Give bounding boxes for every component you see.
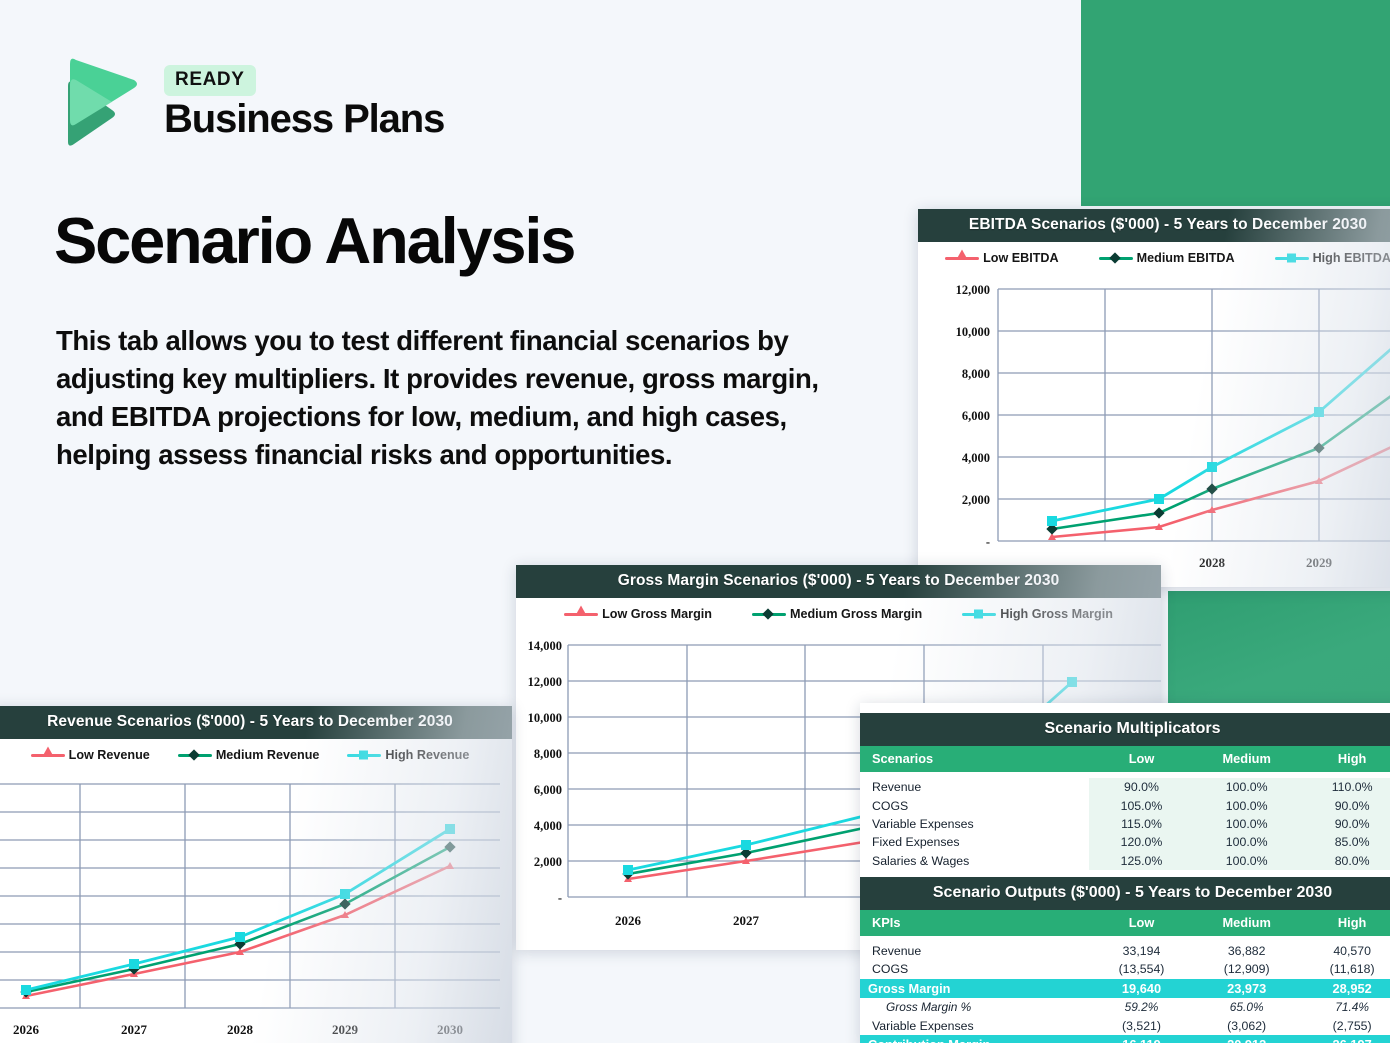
legend-swatch-low — [945, 257, 979, 260]
table-row: Variable Expenses115.0%100.0%90.0% — [860, 815, 1390, 833]
ebitda-chart-card: EBITDA Scenarios ($'000) - 5 Years to De… — [918, 209, 1390, 587]
diamond-marker-icon — [1109, 252, 1120, 263]
column-header-high: High — [1299, 746, 1390, 772]
cell-high: 40,570 — [1299, 942, 1390, 960]
triangle-marker-icon — [957, 250, 967, 259]
svg-text:2026: 2026 — [615, 913, 642, 928]
square-marker-icon — [1287, 254, 1296, 263]
square-marker-icon — [974, 610, 983, 619]
cell-low: (13,554) — [1089, 960, 1194, 978]
brand-name: Business Plans — [164, 99, 444, 140]
svg-text:2029: 2029 — [332, 1022, 359, 1037]
svg-text:-: - — [986, 535, 990, 549]
multiplicators-table: Scenarios Low Medium High Revenue90.0%10… — [860, 746, 1390, 870]
cell-medium: 100.0% — [1194, 815, 1299, 833]
page-title: Scenario Analysis — [54, 208, 574, 275]
legend-item-medium: Medium Revenue — [178, 748, 320, 762]
svg-text:6,000: 6,000 — [534, 783, 562, 797]
decorative-green-block-top-right — [1081, 0, 1390, 206]
svg-text:2026: 2026 — [13, 1022, 40, 1037]
svg-text:2030: 2030 — [437, 1022, 463, 1037]
svg-text:12,000: 12,000 — [528, 675, 562, 689]
legend-label-low: Low EBITDA — [983, 251, 1059, 265]
legend-item-medium: Medium EBITDA — [1099, 251, 1235, 265]
scenario-tables-card: Scenario Multiplicators Scenarios Low Me… — [860, 703, 1390, 1043]
ebitda-chart-title: EBITDA Scenarios ($'000) - 5 Years to De… — [918, 209, 1390, 242]
svg-text:10,000: 10,000 — [528, 711, 562, 725]
cell-medium: 36,882 — [1194, 942, 1299, 960]
cell-low: 120.0% — [1089, 833, 1194, 851]
legend-swatch-high — [347, 754, 381, 757]
play-triangle-logo-icon — [56, 56, 142, 148]
column-header-high: High — [1299, 910, 1390, 936]
svg-text:14,000: 14,000 — [528, 639, 562, 653]
cell-medium: 23,973 — [1194, 979, 1299, 998]
cell-low: (3,521) — [1089, 1016, 1194, 1034]
svg-text:6,000: 6,000 — [962, 409, 990, 423]
cell-medium: 20,912 — [1194, 1035, 1299, 1043]
column-header-kpis: KPIs — [860, 910, 1089, 936]
svg-text:8,000: 8,000 — [534, 747, 562, 761]
decorative-green-block-middle-right — [1168, 591, 1390, 708]
cell-medium: 100.0% — [1194, 833, 1299, 851]
svg-text:2,000: 2,000 — [962, 493, 990, 507]
cell-high: 110.0% — [1299, 778, 1390, 796]
row-label: Gross Margin — [860, 979, 1089, 998]
column-header-medium: Medium — [1194, 910, 1299, 936]
outputs-title: Scenario Outputs ($'000) - 5 Years to De… — [860, 877, 1390, 910]
cell-low: 90.0% — [1089, 778, 1194, 796]
triangle-marker-icon — [43, 747, 53, 756]
table-row: Gross Margin %59.2%65.0%71.4% — [860, 998, 1390, 1016]
legend-label-low: Low Revenue — [69, 748, 150, 762]
row-label: Fixed Expenses — [860, 833, 1089, 851]
svg-text:10,000: 10,000 — [956, 325, 990, 339]
cell-medium: (12,909) — [1194, 960, 1299, 978]
cell-high: (2,755) — [1299, 1016, 1390, 1034]
cell-low: 33,194 — [1089, 942, 1194, 960]
cell-low: 115.0% — [1089, 815, 1194, 833]
table-row: COGS(13,554)(12,909)(11,618) — [860, 960, 1390, 978]
column-header-low: Low — [1089, 910, 1194, 936]
row-label: Revenue — [860, 942, 1089, 960]
legend-item-medium: Medium Gross Margin — [752, 607, 922, 621]
column-header-medium: Medium — [1194, 746, 1299, 772]
svg-text:2028: 2028 — [1199, 555, 1226, 570]
legend-label-medium: Medium Gross Margin — [790, 607, 922, 621]
cell-high: 80.0% — [1299, 852, 1390, 870]
svg-text:2,000: 2,000 — [534, 855, 562, 869]
cell-medium: 100.0% — [1194, 852, 1299, 870]
legend-label-high: High EBITDA — [1313, 251, 1390, 265]
cell-high: 26,197 — [1299, 1035, 1390, 1043]
row-label: Salaries & Wages — [860, 852, 1089, 870]
svg-text:-: - — [558, 891, 562, 905]
ebitda-plot: 12,000 10,000 8,000 6,000 4,000 2,000 - … — [918, 269, 1390, 574]
legend-swatch-low — [31, 754, 65, 757]
cell-high: (11,618) — [1299, 960, 1390, 978]
brand-logo: READY Business Plans — [56, 56, 444, 148]
table-header-row: Scenarios Low Medium High — [860, 746, 1390, 772]
page-description: This tab allows you to test different fi… — [56, 322, 846, 474]
svg-text:8,000: 8,000 — [962, 367, 990, 381]
legend-label-high: High Gross Margin — [1000, 607, 1113, 621]
cell-medium: 100.0% — [1194, 796, 1299, 814]
svg-text:4,000: 4,000 — [534, 819, 562, 833]
slide-canvas: READY Business Plans Scenario Analysis T… — [0, 0, 1390, 1043]
legend-label-high: High Revenue — [385, 748, 469, 762]
legend-swatch-medium — [1099, 257, 1133, 260]
legend-label-low: Low Gross Margin — [602, 607, 712, 621]
legend-swatch-medium — [752, 613, 786, 616]
gross-margin-chart-legend: Low Gross Margin Medium Gross Margin Hig… — [516, 598, 1161, 625]
cell-high: 71.4% — [1299, 998, 1390, 1016]
legend-swatch-high — [962, 613, 996, 616]
cell-medium: 100.0% — [1194, 778, 1299, 796]
legend-item-high: High Revenue — [347, 748, 469, 762]
row-label: Gross Margin % — [860, 998, 1089, 1016]
multiplicators-title: Scenario Multiplicators — [860, 713, 1390, 746]
table-row: Contribution Margin16,11920,91226,197 — [860, 1035, 1390, 1043]
cell-high: 28,952 — [1299, 979, 1390, 998]
table-row: Fixed Expenses120.0%100.0%85.0% — [860, 833, 1390, 851]
cell-low: 19,640 — [1089, 979, 1194, 998]
table-row: COGS105.0%100.0%90.0% — [860, 796, 1390, 814]
legend-item-low: Low Gross Margin — [564, 607, 712, 621]
ready-badge: READY — [164, 65, 256, 96]
triangle-marker-icon — [576, 606, 586, 615]
revenue-chart-card: Revenue Scenarios ($'000) - 5 Years to D… — [0, 706, 512, 1043]
cell-medium: 65.0% — [1194, 998, 1299, 1016]
revenue-chart-title: Revenue Scenarios ($'000) - 5 Years to D… — [0, 706, 512, 739]
svg-text:12,000: 12,000 — [956, 283, 990, 297]
svg-text:2028: 2028 — [227, 1022, 254, 1037]
svg-text:2027: 2027 — [733, 913, 760, 928]
ebitda-chart-legend: Low EBITDA Medium EBITDA High EBITDA — [918, 242, 1390, 269]
cell-high: 85.0% — [1299, 833, 1390, 851]
row-label: Variable Expenses — [860, 815, 1089, 833]
diamond-marker-icon — [762, 608, 773, 619]
svg-text:2027: 2027 — [121, 1022, 148, 1037]
legend-label-medium: Medium EBITDA — [1137, 251, 1235, 265]
cell-low: 125.0% — [1089, 852, 1194, 870]
table-row: Salaries & Wages125.0%100.0%80.0% — [860, 852, 1390, 870]
row-label: Contribution Margin — [860, 1035, 1089, 1043]
table-header-row: KPIs Low Medium High — [860, 910, 1390, 936]
table-row: Variable Expenses(3,521)(3,062)(2,755) — [860, 1016, 1390, 1034]
revenue-plot: 2026 2027 2028 2029 2030 — [0, 766, 512, 1043]
cell-high: 90.0% — [1299, 796, 1390, 814]
svg-text:4,000: 4,000 — [962, 451, 990, 465]
outputs-table: KPIs Low Medium High Revenue33,19436,882… — [860, 910, 1390, 1043]
cell-medium: (3,062) — [1194, 1016, 1299, 1034]
column-header-scenarios: Scenarios — [860, 746, 1089, 772]
square-marker-icon — [359, 751, 368, 760]
legend-label-medium: Medium Revenue — [216, 748, 320, 762]
diamond-marker-icon — [188, 749, 199, 760]
row-label: COGS — [860, 796, 1089, 814]
table-row: Gross Margin19,64023,97328,952 — [860, 979, 1390, 998]
legend-item-low: Low Revenue — [31, 748, 150, 762]
column-header-low: Low — [1089, 746, 1194, 772]
cell-low: 105.0% — [1089, 796, 1194, 814]
legend-item-high: High EBITDA — [1275, 251, 1390, 265]
row-label: COGS — [860, 960, 1089, 978]
table-row: Revenue90.0%100.0%110.0% — [860, 778, 1390, 796]
row-label: Revenue — [860, 778, 1089, 796]
svg-text:2029: 2029 — [1306, 555, 1333, 570]
table-row: Revenue33,19436,88240,570 — [860, 942, 1390, 960]
legend-item-high: High Gross Margin — [962, 607, 1113, 621]
cell-low: 59.2% — [1089, 998, 1194, 1016]
legend-swatch-low — [564, 613, 598, 616]
gross-margin-chart-title: Gross Margin Scenarios ($'000) - 5 Years… — [516, 565, 1161, 598]
row-label: Variable Expenses — [860, 1016, 1089, 1034]
legend-swatch-high — [1275, 257, 1309, 260]
cell-high: 90.0% — [1299, 815, 1390, 833]
cell-low: 16,119 — [1089, 1035, 1194, 1043]
revenue-chart-legend: Low Revenue Medium Revenue High Revenue — [0, 739, 512, 766]
legend-swatch-medium — [178, 754, 212, 757]
legend-item-low: Low EBITDA — [945, 251, 1059, 265]
